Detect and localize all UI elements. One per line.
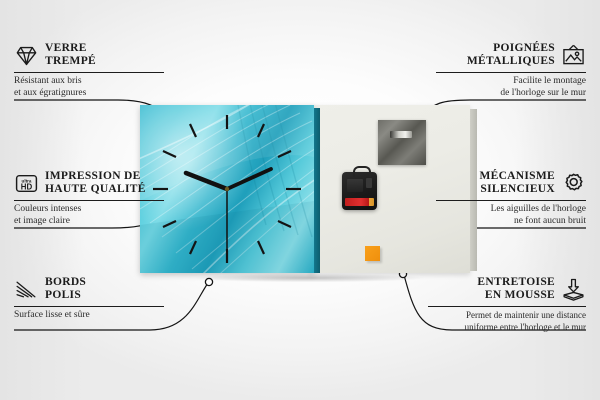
foam-spacer [365, 246, 380, 261]
feature-title: POIGNÉES MÉTALLIQUES [467, 42, 555, 68]
feature-title: ENTRETOISE EN MOUSSE [477, 276, 555, 302]
feature-header: ultra HD IMPRESSION DE HAUTE QUALITÉ [14, 170, 164, 196]
mechanism-hanging-loop [353, 166, 371, 177]
clock-dial [140, 105, 314, 273]
gear-icon [561, 171, 586, 196]
clock-center-cap [225, 187, 229, 191]
clock-mechanism [342, 172, 377, 210]
picture-frame-hanging-icon [561, 43, 586, 68]
divider [14, 72, 164, 73]
feature-verre-trempe: VERRE TREMPÉ Résistant aux bris et aux é… [14, 42, 164, 99]
metal-hanger-plate [378, 120, 426, 165]
feature-title: MÉCANISME SILENCIEUX [479, 170, 555, 196]
divider [436, 72, 586, 73]
hour-hand [186, 173, 227, 189]
feature-header: MÉCANISME SILENCIEUX [436, 170, 586, 196]
polished-edge-icon [14, 277, 39, 302]
feature-entretoise-en-mousse: ENTRETOISE EN MOUSSE Permet de maintenir… [428, 276, 586, 333]
feature-bords-polis: BORDS POLIS Surface lisse et sûre [14, 276, 164, 322]
product-shadow [150, 272, 470, 284]
divider [14, 200, 164, 201]
mechanism-side-detail [366, 178, 372, 188]
divider [436, 200, 586, 201]
svg-text:HD: HD [21, 182, 33, 191]
ultra-hd-badge-icon: ultra HD [14, 171, 39, 196]
wall-clock-face [140, 105, 314, 273]
feature-header: VERRE TREMPÉ [14, 42, 164, 68]
mechanism-body-detail [347, 179, 363, 192]
diamond-icon [14, 43, 39, 68]
feature-header: ENTRETOISE EN MOUSSE [428, 276, 586, 302]
feature-title: BORDS POLIS [45, 276, 86, 302]
foam-spacer-arrow-icon [561, 277, 586, 302]
feature-title: VERRE TREMPÉ [45, 42, 96, 68]
feature-title: IMPRESSION DE HAUTE QUALITÉ [45, 170, 146, 196]
minute-hand [227, 169, 271, 189]
feature-impression-haute-qualite: ultra HD IMPRESSION DE HAUTE QUALITÉ Cou… [14, 170, 164, 227]
hanger-slot [390, 131, 412, 138]
feature-mecanisme-silencieux: MÉCANISME SILENCIEUX Les aiguilles de l'… [436, 170, 586, 227]
clock-glass-edge [314, 108, 320, 273]
divider [428, 306, 586, 307]
feature-poignees-metalliques: POIGNÉES MÉTALLIQUES Facilite le montage… [436, 42, 586, 99]
infographic-canvas: VERRE TREMPÉ Résistant aux bris et aux é… [0, 0, 600, 400]
feature-header: POIGNÉES MÉTALLIQUES [436, 42, 586, 68]
product-image [140, 105, 470, 273]
feature-header: BORDS POLIS [14, 276, 164, 302]
battery [345, 198, 374, 206]
divider [14, 306, 164, 307]
